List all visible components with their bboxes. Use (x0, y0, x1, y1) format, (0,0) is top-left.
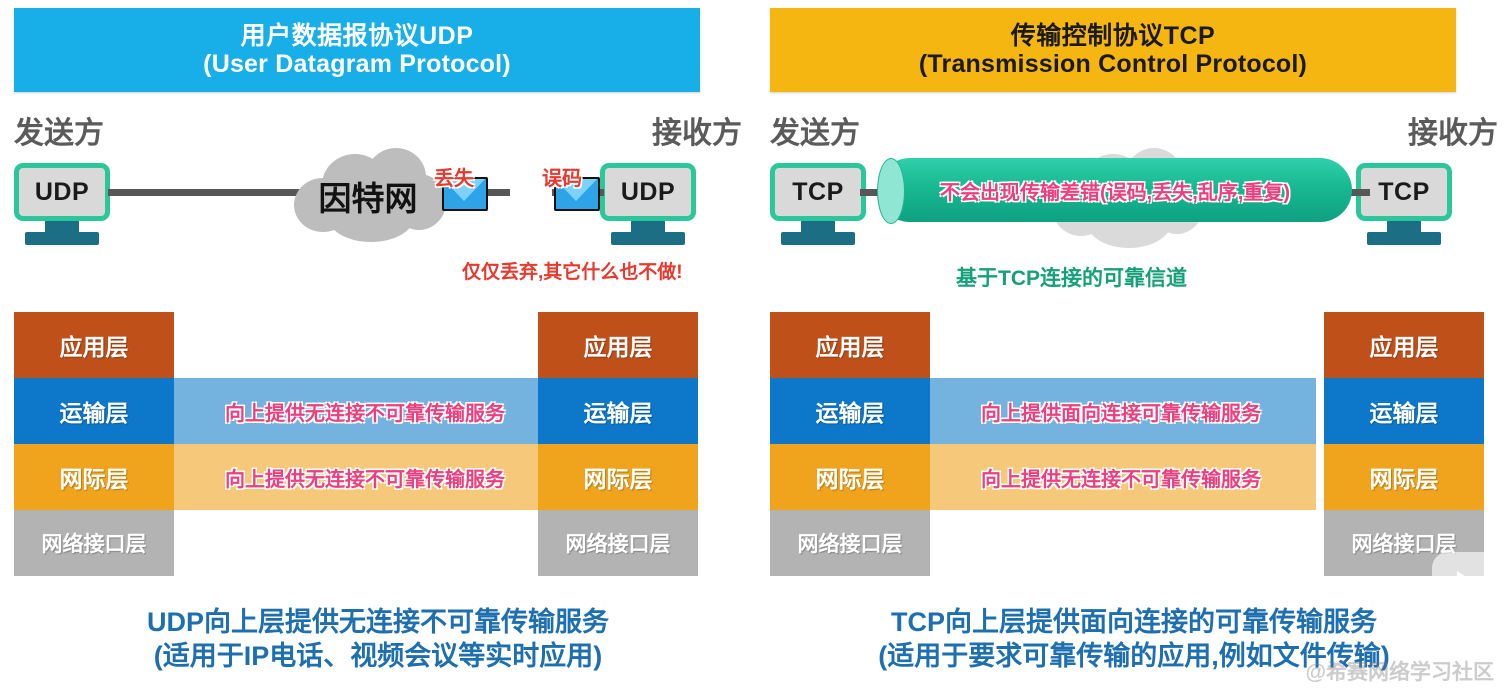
tcp-banner: 传输控制协议TCP (Transmission Control Protocol… (770, 8, 1456, 92)
tcp-panel: 传输控制协议TCP (Transmission Control Protocol… (756, 0, 1512, 700)
udp-network-service-text: 向上提供无连接不可靠传输服务 (225, 463, 505, 492)
layer-transport: 运输层 (770, 378, 930, 444)
tcp-network-service-band: 向上提供无连接不可靠传输服务 (926, 444, 1316, 510)
tcp-banner-title-cn: 传输控制协议TCP (1011, 22, 1216, 50)
tcp-receiver-label: 接收方 (1408, 108, 1498, 152)
udp-transport-service-text: 向上提供无连接不可靠传输服务 (225, 397, 505, 426)
udp-receiver-layer-stack: 应用层 运输层 网际层 网络接口层 (538, 312, 698, 576)
tcp-pipe-text: 不会出现传输差错(误码,丢失,乱序,重复) (940, 176, 1290, 205)
tcp-sender-label: 发送方 (770, 108, 860, 152)
monitor-neck-icon (801, 221, 835, 232)
internet-cloud-label: 因特网 (288, 148, 448, 244)
layer-transport: 运输层 (14, 378, 174, 444)
tcp-sender-host: TCP (770, 163, 866, 245)
monitor-neck-icon (1387, 221, 1421, 232)
udp-banner-title-cn: 用户数据报协议UDP (241, 22, 474, 50)
tcp-receiver-screen: TCP (1356, 163, 1452, 221)
udp-banner: 用户数据报协议UDP (User Datagram Protocol) (14, 8, 700, 92)
udp-sender-host-label: UDP (35, 178, 89, 207)
tcp-banner-title-en: (Transmission Control Protocol) (919, 50, 1307, 78)
udp-sender-host: UDP (14, 163, 110, 245)
tcp-receiver-layer-stack: 应用层 运输层 网际层 网络接口层 (1324, 312, 1484, 576)
udp-caption: UDP向上层提供无连接不可靠传输服务 (适用于IP电话、视频会议等实时应用) (0, 606, 756, 674)
play-button-watermark-icon (1432, 552, 1498, 618)
udp-sender-layer-stack: 应用层 运输层 网际层 网络接口层 (14, 312, 174, 576)
udp-banner-title-en: (User Datagram Protocol) (203, 50, 511, 78)
udp-network-service-band: 向上提供无连接不可靠传输服务 (170, 444, 560, 510)
layer-internet: 网际层 (14, 444, 174, 510)
layer-application: 应用层 (1324, 312, 1484, 378)
layer-application: 应用层 (770, 312, 930, 378)
tcp-sender-host-label: TCP (792, 178, 844, 207)
layer-network-interface: 网络接口层 (14, 510, 174, 576)
udp-receiver-host: UDP (600, 163, 696, 245)
tcp-receiver-host: TCP (1356, 163, 1452, 245)
internet-cloud-icon: 因特网 (288, 148, 448, 244)
monitor-neck-icon (631, 221, 665, 232)
tcp-network-service-text: 向上提供无连接不可靠传输服务 (981, 463, 1261, 492)
layer-network-interface: 网络接口层 (538, 510, 698, 576)
udp-discard-note: 仅仅丢弃,其它什么也不做! (462, 257, 683, 284)
udp-transport-service-band: 向上提供无连接不可靠传输服务 (170, 378, 560, 444)
play-triangle-icon (1457, 571, 1479, 599)
tcp-transport-service-text: 向上提供面向连接可靠传输服务 (981, 397, 1261, 426)
udp-receiver-screen: UDP (600, 163, 696, 221)
monitor-base-icon (781, 232, 855, 245)
layer-internet: 网际层 (1324, 444, 1484, 510)
udp-caption-line1: UDP向上层提供无连接不可靠传输服务 (0, 606, 756, 640)
layer-transport: 运输层 (538, 378, 698, 444)
layer-internet: 网际层 (770, 444, 930, 510)
layer-application: 应用层 (538, 312, 698, 378)
udp-receiver-label: 接收方 (652, 108, 742, 152)
monitor-base-icon (611, 232, 685, 245)
tcp-receiver-host-label: TCP (1378, 178, 1430, 207)
monitor-base-icon (25, 232, 99, 245)
monitor-base-icon (1367, 232, 1441, 245)
udp-wire-left (108, 189, 308, 196)
tcp-sender-screen: TCP (770, 163, 866, 221)
tcp-caption-line1: TCP向上层提供面向连接的可靠传输服务 (756, 606, 1512, 640)
udp-panel: 用户数据报协议UDP (User Datagram Protocol) 发送方 … (0, 0, 756, 700)
tcp-channel-note: 基于TCP连接的可靠信道 (956, 262, 1187, 292)
udp-caption-line2: (适用于IP电话、视频会议等实时应用) (0, 640, 756, 674)
tcp-transport-service-band: 向上提供面向连接可靠传输服务 (926, 378, 1316, 444)
tcp-reliable-pipe: 不会出现传输差错(误码,丢失,乱序,重复) (878, 158, 1352, 222)
pipe-end-cap-icon (877, 158, 905, 224)
layer-application: 应用层 (14, 312, 174, 378)
tcp-sender-layer-stack: 应用层 运输层 网际层 网络接口层 (770, 312, 930, 576)
udp-receiver-host-label: UDP (621, 178, 675, 207)
layer-network-interface: 网络接口层 (770, 510, 930, 576)
monitor-neck-icon (45, 221, 79, 232)
udp-sender-label: 发送方 (14, 108, 104, 152)
site-watermark: @希赛网络学习社区 (1306, 656, 1494, 686)
udp-sender-screen: UDP (14, 163, 110, 221)
udp-error-label: 误码 (542, 162, 582, 191)
layer-internet: 网际层 (538, 444, 698, 510)
layer-transport: 运输层 (1324, 378, 1484, 444)
